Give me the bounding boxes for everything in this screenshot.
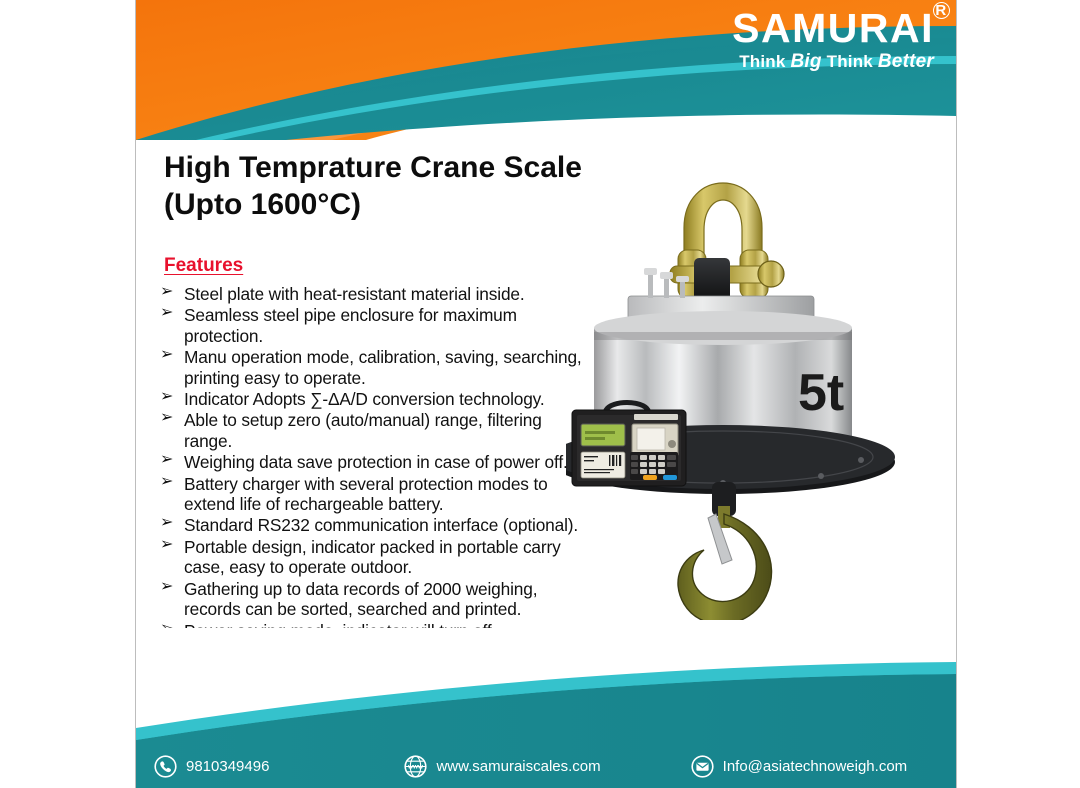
phone-icon xyxy=(154,755,177,778)
globe-icon: www xyxy=(404,755,427,778)
footer-contact-row: 9810349496 www www.samuraiscales.com xyxy=(136,744,956,788)
feature-text: Steel plate with heat-resistant material… xyxy=(184,284,525,304)
arrow-bullet-icon: ➢ xyxy=(160,304,173,323)
globe-www-label: www xyxy=(407,763,423,770)
envelope-icon xyxy=(691,755,714,778)
arrow-bullet-icon: ➢ xyxy=(160,346,173,365)
blue-key xyxy=(663,475,677,480)
content-card: SAMURAI R Think Big Think Better xyxy=(135,0,957,788)
title-line-1: High Temprature Crane Scale xyxy=(164,150,704,187)
footer-phone-text: 9810349496 xyxy=(186,758,269,775)
footer-email[interactable]: Info@asiatechnoweigh.com xyxy=(691,755,908,778)
footer-banner: 9810349496 www www.samuraiscales.com xyxy=(136,628,956,788)
feature-item: ➢Gathering up to data records of 2000 we… xyxy=(158,579,588,620)
feature-text: Manu operation mode, calibration, saving… xyxy=(184,347,582,387)
features-heading: Features xyxy=(164,255,243,277)
brand-name: SAMURAI R xyxy=(732,8,934,49)
brand-name-text: SAMURAI xyxy=(732,5,934,51)
feature-text: Seamless steel pipe enclosure for maximu… xyxy=(184,305,517,345)
title-line-2: (Upto 1600°C) xyxy=(164,187,704,224)
feature-item: ➢Portable design, indicator packed in po… xyxy=(158,537,588,578)
arrow-bullet-icon: ➢ xyxy=(160,578,173,597)
flyer-page: SAMURAI R Think Big Think Better xyxy=(0,0,1080,788)
arrow-bullet-icon: ➢ xyxy=(160,388,173,407)
brand-logo: SAMURAI R Think Big Think Better xyxy=(732,8,934,71)
tagline-part-2: Think xyxy=(822,52,878,71)
footer-phone[interactable]: 9810349496 xyxy=(154,755,269,778)
arrow-bullet-icon: ➢ xyxy=(160,536,173,555)
lifting-hook xyxy=(678,514,772,620)
feature-item: ➢Seamless steel pipe enclosure for maxim… xyxy=(158,305,588,346)
capacity-marking: 5t xyxy=(798,364,844,422)
feature-text: Standard RS232 communication interface (… xyxy=(184,515,578,535)
arrow-bullet-icon: ➢ xyxy=(160,473,173,492)
feature-text: Weighing data save protection in case of… xyxy=(184,452,568,472)
footer-website-text: www.samuraiscales.com xyxy=(436,758,600,775)
feature-text: Indicator Adopts ∑-ΔA/D conversion techn… xyxy=(184,389,545,409)
arrow-bullet-icon: ➢ xyxy=(160,283,173,302)
carry-handle xyxy=(606,403,648,411)
feature-item: ➢Manu operation mode, calibration, savin… xyxy=(158,347,588,388)
tagline-better: Better xyxy=(878,51,934,72)
feature-item: ➢Battery charger with several protection… xyxy=(158,474,588,515)
feature-text: Battery charger with several protection … xyxy=(184,474,548,514)
feature-item: ➢Standard RS232 communication interface … xyxy=(158,515,588,535)
feature-item: ➢Indicator Adopts ∑-ΔA/D conversion tech… xyxy=(158,389,588,409)
tagline-big: Big xyxy=(790,51,821,72)
footer-email-text: Info@asiatechnoweigh.com xyxy=(723,758,908,775)
feature-text: Able to setup zero (auto/manual) range, … xyxy=(184,410,542,450)
arrow-bullet-icon: ➢ xyxy=(160,409,173,428)
feature-item: ➢Steel plate with heat-resistant materia… xyxy=(158,284,588,304)
arrow-bullet-icon: ➢ xyxy=(160,451,173,470)
orange-key xyxy=(643,475,657,480)
arrow-bullet-icon: ➢ xyxy=(160,514,173,533)
page-title: High Temprature Crane Scale (Upto 1600°C… xyxy=(164,150,704,223)
brand-tagline: Think Big Think Better xyxy=(732,52,934,71)
registered-trademark-icon: R xyxy=(933,2,950,19)
footer-website[interactable]: www www.samuraiscales.com xyxy=(404,755,600,778)
feature-text: Gathering up to data records of 2000 wei… xyxy=(184,579,537,619)
features-list: ➢Steel plate with heat-resistant materia… xyxy=(158,284,588,662)
feature-text: Portable design, indicator packed in por… xyxy=(184,537,561,577)
feature-item: ➢Weighing data save protection in case o… xyxy=(158,452,588,472)
feature-item: ➢Able to setup zero (auto/manual) range,… xyxy=(158,410,588,451)
tagline-part-1: Think xyxy=(739,52,790,71)
